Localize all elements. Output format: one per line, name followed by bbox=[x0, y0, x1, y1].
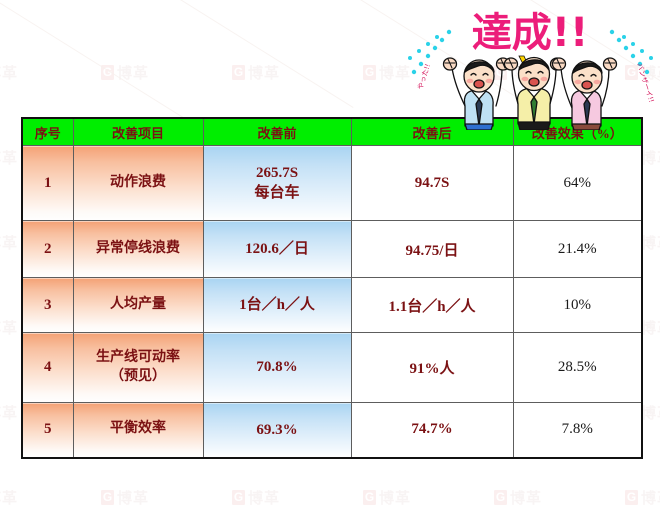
watermark: G博革 bbox=[0, 147, 18, 168]
watermark-logo-icon: G bbox=[494, 490, 507, 505]
watermark-text: 博革 bbox=[641, 147, 660, 168]
watermark: G博革 bbox=[363, 487, 411, 508]
watermark: G博革 bbox=[0, 232, 18, 253]
table-row: 2异常停线浪费120.6／日94.75/日21.4% bbox=[22, 221, 642, 278]
cell-row-number: 3 bbox=[22, 278, 73, 333]
table-row: 4生产线可动率（预见）70.8%91%人28.5% bbox=[22, 333, 642, 403]
watermark-text: 博革 bbox=[0, 232, 18, 253]
watermark: G博革 bbox=[0, 317, 18, 338]
cell-improvement-item: 平衡效率 bbox=[73, 403, 203, 458]
watermark: G博革 bbox=[0, 402, 18, 423]
watermark: G博革 bbox=[0, 487, 18, 508]
cartoon-person-1 bbox=[444, 58, 510, 130]
shout-left-text: やった!! bbox=[416, 63, 432, 91]
watermark-text: 博革 bbox=[0, 402, 18, 423]
cell-before-value: 69.3% bbox=[203, 403, 351, 458]
watermark: G博革 bbox=[625, 487, 660, 508]
cell-before-value: 70.8% bbox=[203, 333, 351, 403]
watermark-logo-icon: G bbox=[363, 65, 376, 80]
watermark-text: 博革 bbox=[117, 62, 149, 83]
background-diagonal-line bbox=[0, 0, 184, 118]
column-header-no: 序号 bbox=[22, 118, 73, 146]
cell-effect-value: 28.5% bbox=[513, 333, 642, 403]
cell-after-value: 94.75/日 bbox=[351, 221, 513, 278]
watermark-text: 博革 bbox=[510, 487, 542, 508]
watermark-text: 博革 bbox=[248, 487, 280, 508]
table-body: 1动作浪费265.7S每台车94.7S64%2异常停线浪费120.6／日94.7… bbox=[22, 146, 642, 458]
watermark-logo-icon: G bbox=[101, 490, 114, 505]
watermark: G博革 bbox=[232, 62, 280, 83]
table-row: 1动作浪费265.7S每台车94.7S64% bbox=[22, 146, 642, 221]
cell-before-value: 120.6／日 bbox=[203, 221, 351, 278]
cell-improvement-item: 生产线可动率（预见） bbox=[73, 333, 203, 403]
watermark: G博革 bbox=[494, 487, 542, 508]
celebration-clipart: 達成!! やった!! バンザーイ!! bbox=[404, 2, 656, 130]
watermark-text: 博革 bbox=[0, 147, 18, 168]
watermark-logo-icon: G bbox=[363, 490, 376, 505]
cell-row-number: 2 bbox=[22, 221, 73, 278]
watermark-text: 博革 bbox=[379, 487, 411, 508]
cell-after-value: 94.7S bbox=[351, 146, 513, 221]
cell-effect-value: 21.4% bbox=[513, 221, 642, 278]
cell-before-value: 265.7S每台车 bbox=[203, 146, 351, 221]
cell-after-value: 74.7% bbox=[351, 403, 513, 458]
cell-improvement-item: 人均产量 bbox=[73, 278, 203, 333]
cartoon-person-3 bbox=[553, 58, 617, 130]
column-header-before: 改善前 bbox=[203, 118, 351, 146]
improvement-results-table: 序号 改善项目 改善前 改善后 改善效果（%） 1动作浪费265.7S每台车94… bbox=[21, 117, 643, 459]
watermark-logo-icon: G bbox=[625, 490, 638, 505]
watermark-text: 博革 bbox=[248, 62, 280, 83]
watermark: G博革 bbox=[101, 62, 149, 83]
watermark: G博革 bbox=[232, 487, 280, 508]
watermark-text: 博革 bbox=[0, 62, 18, 83]
cell-after-value: 1.1台／h／人 bbox=[351, 278, 513, 333]
watermark: G博革 bbox=[0, 62, 18, 83]
table-row: 5平衡效率69.3%74.7%7.8% bbox=[22, 403, 642, 458]
cell-improvement-item: 动作浪费 bbox=[73, 146, 203, 221]
column-header-item: 改善项目 bbox=[73, 118, 203, 146]
watermark-logo-icon: G bbox=[232, 65, 245, 80]
cell-row-number: 5 bbox=[22, 403, 73, 458]
watermark: G博革 bbox=[101, 487, 149, 508]
cell-improvement-item: 异常停线浪费 bbox=[73, 221, 203, 278]
table-row: 3人均产量1台／h／人1.1台／h／人10% bbox=[22, 278, 642, 333]
cell-effect-value: 10% bbox=[513, 278, 642, 333]
cell-row-number: 4 bbox=[22, 333, 73, 403]
cell-row-number: 1 bbox=[22, 146, 73, 221]
shout-right-text: バンザーイ!! bbox=[635, 62, 655, 103]
watermark-text: 博革 bbox=[641, 232, 660, 253]
watermark-text: 博革 bbox=[0, 487, 18, 508]
watermark-text: 博革 bbox=[641, 487, 660, 508]
watermark-text: 博革 bbox=[117, 487, 149, 508]
cell-before-value: 1台／h／人 bbox=[203, 278, 351, 333]
watermark-logo-icon: G bbox=[101, 65, 114, 80]
cell-after-value: 91%人 bbox=[351, 333, 513, 403]
banner-title: 達成!! bbox=[472, 10, 588, 56]
watermark-text: 博革 bbox=[641, 317, 660, 338]
background-diagonal-line bbox=[149, 0, 353, 108]
cell-effect-value: 7.8% bbox=[513, 403, 642, 458]
watermark-text: 博革 bbox=[0, 317, 18, 338]
cell-effect-value: 64% bbox=[513, 146, 642, 221]
watermark-logo-icon: G bbox=[232, 490, 245, 505]
watermark-text: 博革 bbox=[641, 402, 660, 423]
